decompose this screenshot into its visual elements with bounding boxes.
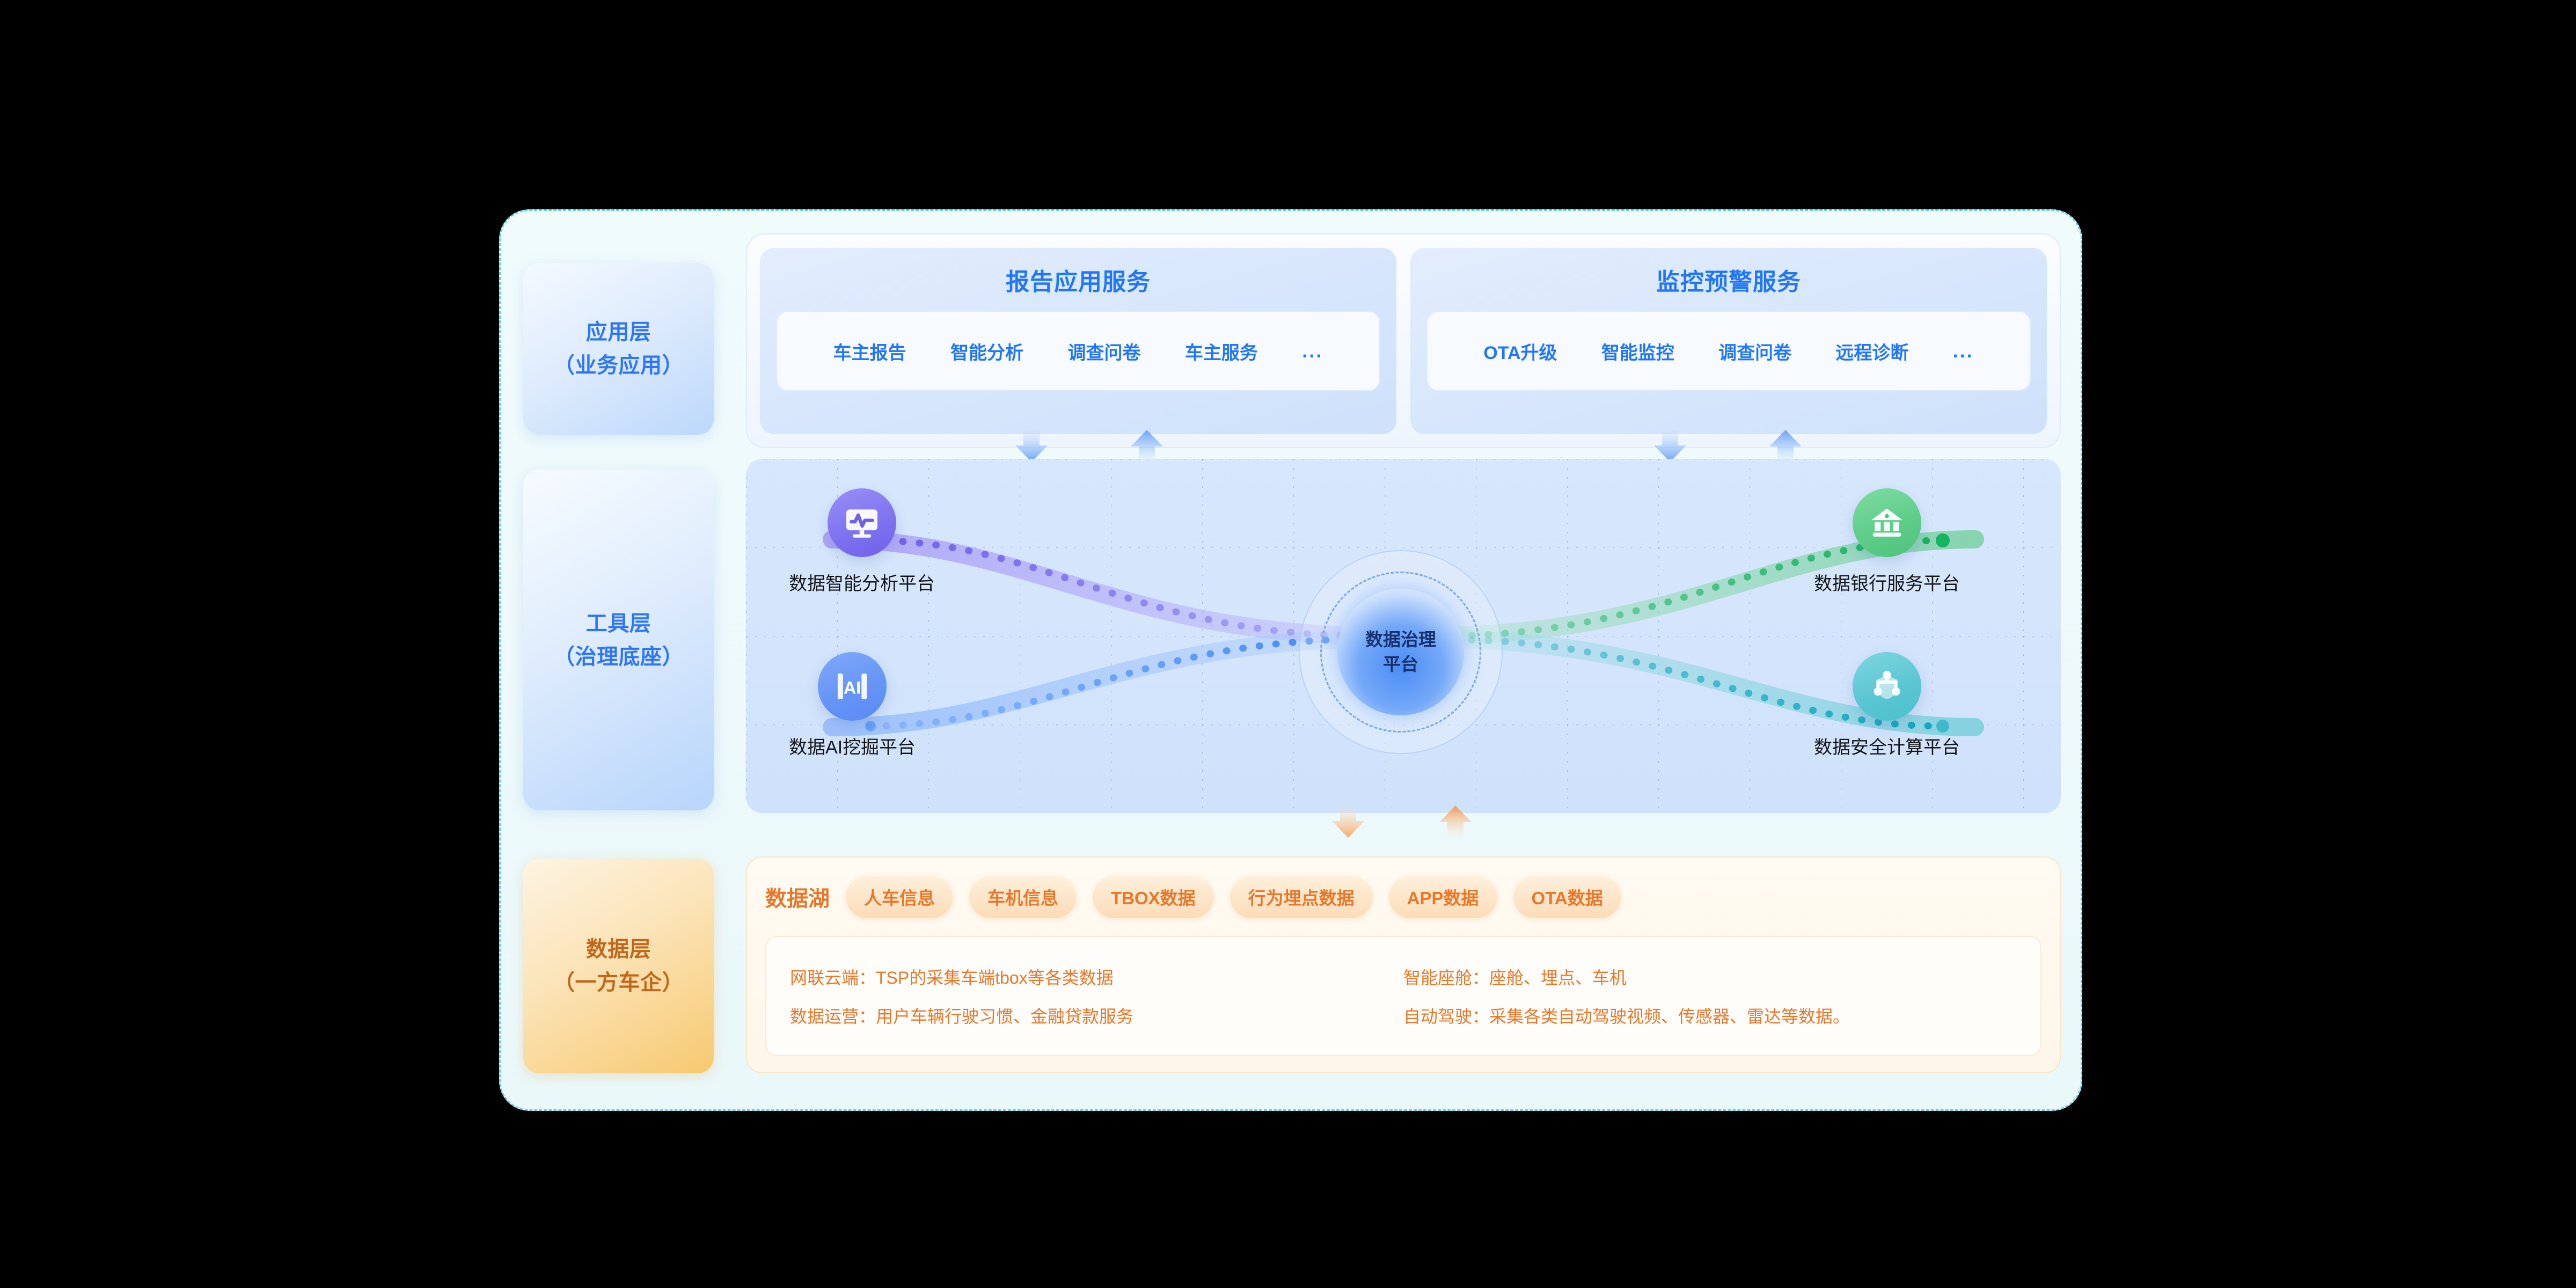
lake-tag-1[interactable]: 车机信息 bbox=[969, 875, 1077, 918]
service-card-report[interactable]: 报告应用服务 车主报告 智能分析 调查问卷 车主服务 ... bbox=[760, 247, 1396, 434]
tag-monitor-3[interactable]: 远程诊断 bbox=[1835, 338, 1908, 364]
tag-monitor-0[interactable]: OTA升级 bbox=[1483, 338, 1557, 364]
tag-monitor-more[interactable]: ... bbox=[1953, 340, 1974, 362]
tag-report-3[interactable]: 车主服务 bbox=[1185, 338, 1258, 364]
lake-tag-3[interactable]: 行为埋点数据 bbox=[1230, 875, 1373, 918]
node-data-analysis-platform[interactable]: 数据智能分析平台 bbox=[789, 488, 935, 595]
node-data-security-compute-platform[interactable]: 数据安全计算平台 bbox=[1814, 652, 1960, 759]
layer-application-subtitle: （业务应用） bbox=[553, 349, 684, 382]
desc-line-3: 自动驾驶：采集各类自动驾驶视频、传感器、雷达等数据。 bbox=[1403, 1003, 2017, 1028]
tag-report-0[interactable]: 车主报告 bbox=[833, 338, 906, 364]
layer-data-subtitle: （一方车企） bbox=[553, 966, 684, 999]
node-data-ai-mining-platform[interactable]: AI 数据AI挖掘平台 bbox=[789, 652, 916, 759]
service-card-monitor-title: 监控预警服务 bbox=[1656, 262, 1801, 297]
arrow-up-monitor bbox=[1768, 429, 1803, 463]
arrow-down-report bbox=[1014, 429, 1049, 463]
service-card-report-title: 报告应用服务 bbox=[1006, 262, 1151, 297]
shield-node-icon bbox=[1853, 652, 1921, 721]
layer-tool-subtitle: （治理底座） bbox=[553, 640, 684, 674]
diagram-canvas: 应用层 （业务应用） 工具层 （治理底座） 数据层 （一方车企） 报告应用服务 … bbox=[0, 0, 2576, 1288]
service-card-monitor[interactable]: 监控预警服务 OTA升级 智能监控 调查问卷 远程诊断 ... bbox=[1410, 247, 2047, 434]
node-data-bank-service-platform[interactable]: 数据银行服务平台 bbox=[1814, 488, 1960, 595]
arrow-up-data-lake bbox=[1438, 805, 1473, 838]
tag-monitor-2[interactable]: 调查问卷 bbox=[1718, 338, 1791, 364]
data-layer-panel: 数据湖 人车信息 车机信息 TBOX数据 行为埋点数据 APP数据 OTA数据 … bbox=[746, 857, 2061, 1073]
node-data-analysis-label: 数据智能分析平台 bbox=[789, 569, 935, 595]
svg-text:AI: AI bbox=[844, 678, 861, 698]
node-data-ai-label: 数据AI挖掘平台 bbox=[789, 733, 916, 759]
arrow-down-data-lake bbox=[1331, 805, 1365, 838]
tag-report-1[interactable]: 智能分析 bbox=[950, 338, 1023, 364]
layer-data-title: 数据层 bbox=[586, 933, 652, 966]
arrow-up-report bbox=[1130, 429, 1164, 463]
tag-report-more[interactable]: ... bbox=[1302, 340, 1323, 362]
data-lake-title: 数据湖 bbox=[765, 881, 830, 912]
service-card-monitor-tags: OTA升级 智能监控 调查问卷 远程诊断 ... bbox=[1426, 311, 2031, 391]
service-card-report-tags: 车主报告 智能分析 调查问卷 车主服务 ... bbox=[776, 311, 1380, 391]
arrow-down-monitor bbox=[1653, 429, 1687, 463]
lake-tag-4[interactable]: APP数据 bbox=[1389, 875, 1497, 918]
node-data-bank-label: 数据银行服务平台 bbox=[1814, 569, 1960, 595]
layer-application-title: 应用层 bbox=[586, 316, 652, 349]
central-hub: 数据治理 平台 bbox=[1299, 550, 1503, 754]
lake-tag-0[interactable]: 人车信息 bbox=[846, 875, 953, 918]
tag-report-2[interactable]: 调查问卷 bbox=[1067, 338, 1140, 364]
data-source-description-box: 网联云端：TSP的采集车端tbox等各类数据 智能座舱：座舱、埋点、车机 数据运… bbox=[765, 936, 2041, 1056]
node-data-security-label: 数据安全计算平台 bbox=[1814, 733, 1960, 759]
monitor-pulse-icon bbox=[828, 488, 896, 557]
layer-chip-application: 应用层 （业务应用） bbox=[523, 263, 714, 435]
desc-line-2: 数据运营：用户车辆行驶习惯、金融贷款服务 bbox=[790, 1003, 1403, 1028]
hub-label-line1: 数据治理 bbox=[1365, 627, 1436, 652]
tag-monitor-1[interactable]: 智能监控 bbox=[1601, 338, 1674, 364]
application-layer-panel: 报告应用服务 车主报告 智能分析 调查问卷 车主服务 ... 监控预警服务 OT… bbox=[746, 233, 2061, 448]
layer-chip-tool: 工具层 （治理底座） bbox=[523, 470, 714, 810]
lake-tag-5[interactable]: OTA数据 bbox=[1513, 875, 1621, 918]
ai-text-icon: AI bbox=[818, 652, 887, 721]
desc-line-1: 智能座舱：座舱、埋点、车机 bbox=[1403, 964, 2017, 989]
desc-line-0: 网联云端：TSP的采集车端tbox等各类数据 bbox=[790, 964, 1403, 989]
data-lake-row: 数据湖 人车信息 车机信息 TBOX数据 行为埋点数据 APP数据 OTA数据 bbox=[747, 858, 2060, 936]
hub-label-line2: 平台 bbox=[1383, 652, 1418, 677]
hub-core: 数据治理 平台 bbox=[1337, 589, 1464, 715]
lake-tag-2[interactable]: TBOX数据 bbox=[1093, 875, 1214, 918]
layer-tool-title: 工具层 bbox=[586, 607, 652, 640]
layer-chip-data: 数据层 （一方车企） bbox=[523, 859, 714, 1073]
bank-building-icon bbox=[1853, 488, 1921, 557]
